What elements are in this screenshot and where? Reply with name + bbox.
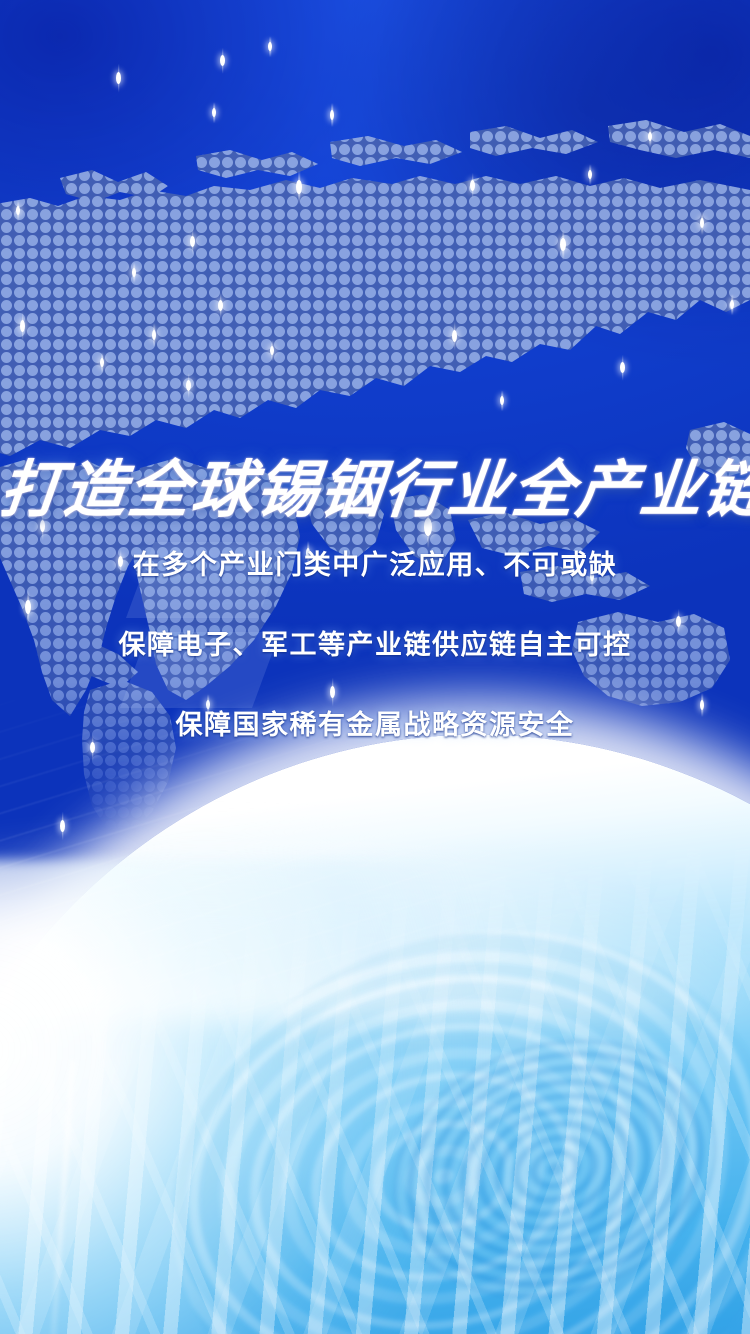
poster-subline-1: 在多个产业门类中广泛应用、不可或缺: [0, 552, 750, 579]
poster-subline-2: 保障电子、军工等产业链供应链自主可控: [0, 632, 750, 659]
poster-subline-list: 在多个产业门类中广泛应用、不可或缺 保障电子、军工等产业链供应链自主可控 保障国…: [0, 552, 750, 739]
poster-headline: 打造全球锡铟行业全产业链链主: [0, 460, 750, 522]
poster-subline-3: 保障国家稀有金属战略资源安全: [0, 712, 750, 739]
poster-canvas: 打造全球锡铟行业全产业链链主 在多个产业门类中广泛应用、不可或缺 保障电子、军工…: [0, 0, 750, 1334]
